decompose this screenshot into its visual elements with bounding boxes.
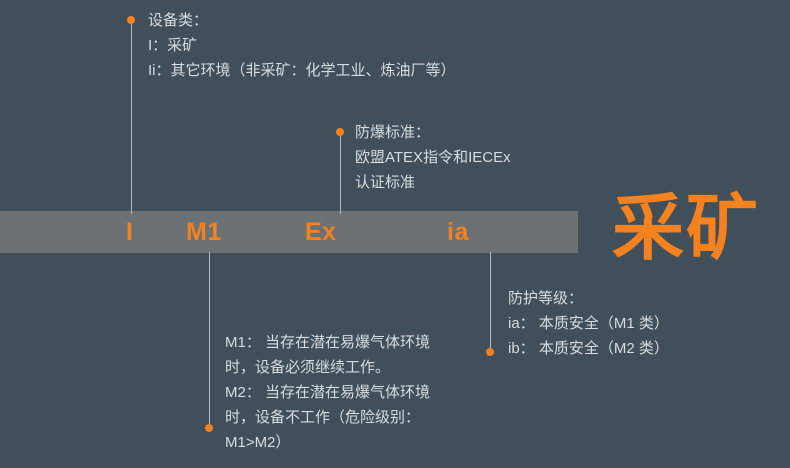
code-label-protection-level: ia [447, 218, 469, 246]
note-equipment-marking: M1： 当存在潜在易爆气体环境 时，设备必须继续工作。 M2： 当存在潜在易爆气… [225, 330, 430, 455]
note-standard-line-1: 欧盟ATEX指令和IECEx [355, 145, 511, 170]
note-marking-line-2: 时，设备必须继续工作。 [225, 355, 430, 380]
code-label-equipment-group: I [126, 218, 133, 246]
note-marking-line-5: M1>M2） [225, 430, 430, 455]
note-marking-line-3: M2： 当存在潜在易爆气体环境 [225, 380, 430, 405]
code-bar [0, 211, 578, 253]
leader-dot-protection [486, 348, 494, 356]
note-explosion-standard: 防爆标准： 欧盟ATEX指令和IECEx 认证标准 [355, 120, 511, 195]
note-equipment-title: 设备类： [148, 8, 456, 33]
headline-mining: 采矿 [612, 189, 760, 269]
note-standard-title: 防爆标准： [355, 120, 511, 145]
note-protection-title: 防护等级： [508, 286, 669, 311]
leader-dot-marking [205, 424, 213, 432]
leader-dot-standard [336, 128, 344, 136]
leader-line-standard [340, 134, 341, 214]
code-label-equipment-category: M1 [186, 218, 222, 246]
note-equipment-line-1: I：采矿 [148, 33, 456, 58]
note-standard-line-2: 认证标准 [355, 170, 511, 195]
note-equipment-line-2: Ii：其它环境（非采矿：化学工业、炼油厂等） [148, 58, 456, 83]
note-protection-line-1: ia： 本质安全（M1 类） [508, 311, 669, 336]
leader-line-protection [490, 252, 491, 352]
note-protection-level: 防护等级： ia： 本质安全（M1 类） ib： 本质安全（M2 类） [508, 286, 669, 361]
note-protection-line-2: ib： 本质安全（M2 类） [508, 336, 669, 361]
leader-line-equipment [131, 22, 132, 214]
leader-dot-equipment [127, 16, 135, 24]
note-marking-line-1: M1： 当存在潜在易爆气体环境 [225, 330, 430, 355]
note-equipment-class: 设备类： I：采矿 Ii：其它环境（非采矿：化学工业、炼油厂等） [148, 8, 456, 83]
leader-line-marking [209, 252, 210, 428]
note-marking-line-4: 时，设备不工作（危险级别： [225, 405, 430, 430]
diagram-canvas: I M1 Ex ia 采矿 设备类： I：采矿 Ii：其它环境（非采矿：化学工业… [0, 0, 790, 468]
code-label-explosion-protection: Ex [305, 218, 337, 246]
